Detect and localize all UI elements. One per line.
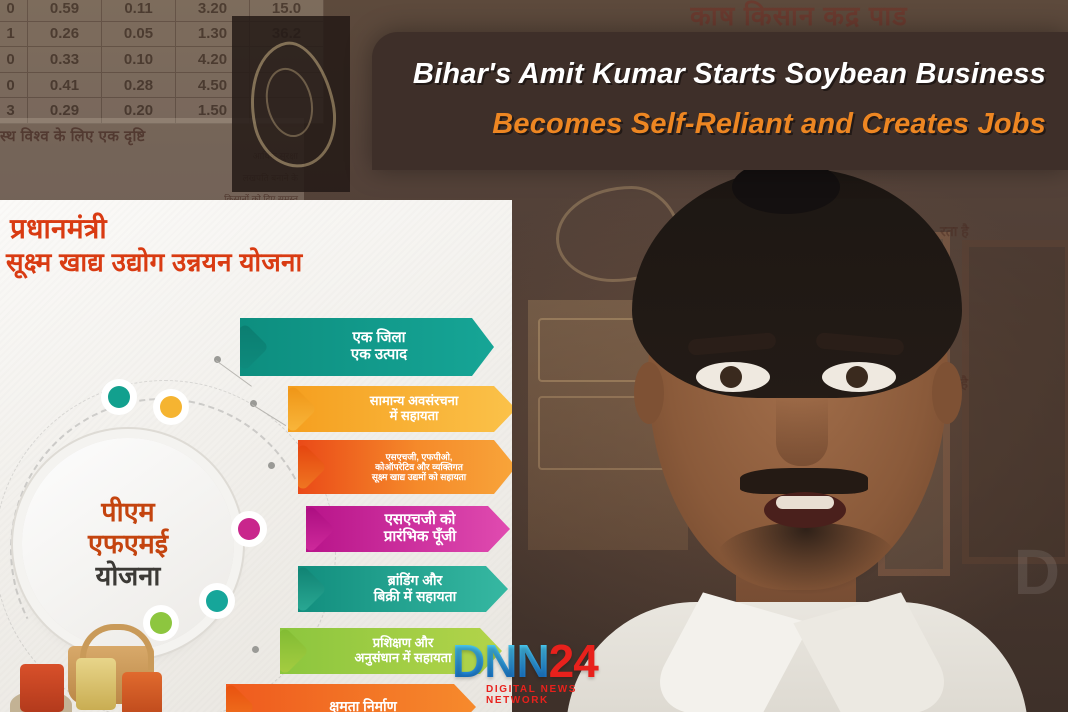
table-cell: 1 [0, 22, 28, 48]
ear-right [932, 362, 962, 424]
dnn24-logo: DNN 24 DIGITAL NEWS NETWORK [452, 638, 628, 700]
arrow-label: एसएचजी को प्रारंभिक पूँजी [344, 512, 472, 546]
arrow-label: सामान्य अवसंरचना में सहायता [330, 394, 474, 423]
table-cell: 0.59 [28, 0, 102, 22]
connector-dot-green-teal [206, 590, 228, 612]
emblem-panel [232, 16, 350, 192]
headline-line-2: Becomes Self-Reliant and Creates Jobs [372, 108, 1046, 141]
logo-24-text: 24 [549, 638, 598, 684]
pmfme-infographic-panel: प्रधानमंत्री सूक्ष्म खाद्य उद्योग उन्नयन… [0, 200, 512, 712]
pickle-jar-red-right [122, 672, 162, 712]
headline-banner: Bihar's Amit Kumar Starts Soybean Busine… [372, 32, 1068, 170]
nose [776, 394, 828, 466]
center-line-2: एफएमई [88, 529, 168, 559]
interviewee-portrait [560, 150, 1030, 712]
infographic-title-line-2: सूक्ष्म खाद्य उद्योग उन्नयन योजना [6, 248, 303, 276]
table-cell: 0.26 [28, 22, 102, 48]
center-circle: पीएम एफएमई योजना [22, 438, 234, 650]
table-cell: 0 [0, 0, 28, 22]
arrow-label: क्षमता निर्माण [289, 699, 412, 712]
arrow-label: ब्रांडिंग और बिक्री में सहायता [334, 573, 472, 604]
center-circle-text: पीएम एफएमई योजना [22, 438, 234, 650]
logo-tagline: DIGITAL NEWS NETWORK [486, 684, 628, 706]
arrow-shg-fpo-cooperative-support: एसएचजी, एफपीओ, कोऑपरेटिव और व्यक्तिगत सू… [298, 440, 512, 494]
arrow-branding-marketing-support: ब्रांडिंग और बिक्री में सहायता [298, 566, 508, 612]
table-cell: 0.28 [102, 73, 176, 99]
pickle-jar-red-left [20, 664, 64, 712]
logo-wordmark: DNN 24 [452, 638, 598, 684]
eye-right [822, 362, 896, 392]
news-thumbnail: 0 0.59 0.11 3.20 15.0 1 0.26 0.05 1.30 3… [0, 0, 1068, 712]
beard [716, 522, 896, 594]
wheat-emblem-icon [238, 35, 346, 176]
connector-dot-teal [108, 386, 130, 408]
mouth [764, 492, 846, 528]
table-cell: 0.11 [102, 0, 176, 22]
moustache [740, 468, 868, 494]
connector-node [268, 462, 275, 469]
hair [632, 168, 962, 398]
arrow-capacity-building: क्षमता निर्माण [226, 684, 476, 712]
center-line-3: योजना [96, 561, 161, 591]
table-cell: 0.41 [28, 73, 102, 99]
ear-left [634, 362, 664, 424]
pickle-jar-yellow [76, 658, 116, 710]
arrow-one-district-one-product: एक जिला एक उत्पाद [240, 318, 494, 376]
headline-line-1: Bihar's Amit Kumar Starts Soybean Busine… [372, 58, 1046, 91]
arrow-label: प्रशिक्षण और अनुसंधान में सहायता [315, 636, 468, 665]
arrow-shg-seed-capital: एसएचजी को प्रारंभिक पूँजी [306, 506, 510, 552]
infographic-title-line-1: प्रधानमंत्री [10, 214, 107, 244]
arrow-label: एक जिला एक उत्पाद [311, 330, 423, 364]
table-cell: 0.33 [28, 47, 102, 73]
connector-dot-yellow [160, 396, 182, 418]
connector-node [252, 646, 259, 653]
logo-dnn-text: DNN [452, 638, 549, 684]
pupil-left [720, 366, 742, 388]
table-cell: 0 [0, 73, 28, 99]
center-line-1: पीएम [101, 497, 154, 527]
arrow-label: एसएचजी, एफपीओ, कोऑपरेटिव और व्यक्तिगत सू… [332, 452, 482, 482]
table-cell: 0.10 [102, 47, 176, 73]
eye-left [696, 362, 770, 392]
table-cell: 0 [0, 47, 28, 73]
connector-dot-magenta [238, 518, 260, 540]
table-cell: 0.05 [102, 22, 176, 48]
background-top-hindi-text: काष किसान कद्र पाड [690, 0, 1068, 36]
pupil-right [846, 366, 868, 388]
food-products-basket [10, 632, 220, 712]
connector-dot-lime [150, 612, 172, 634]
arrow-common-infrastructure-support: सामान्य अवसंरचना में सहायता [288, 386, 512, 432]
